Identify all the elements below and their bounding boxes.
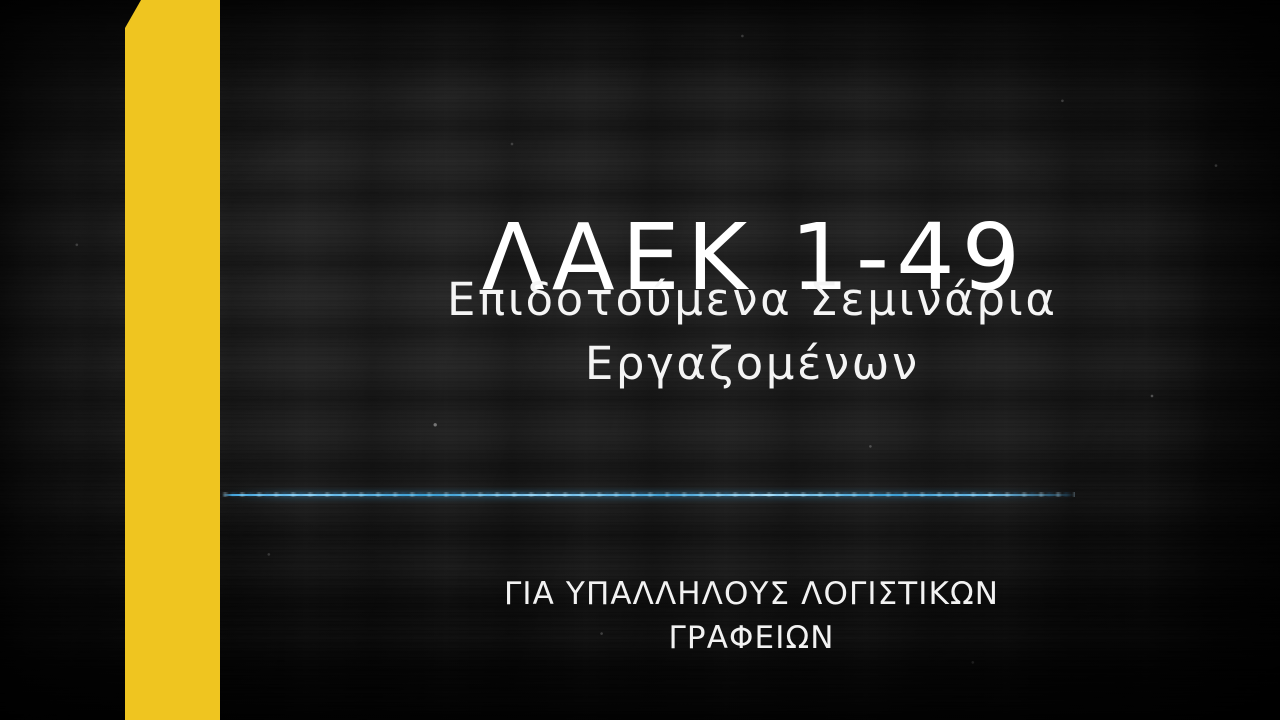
caption-line-2: ΓΡΑΦΕΙΩΝ	[222, 616, 1280, 660]
divider-texture	[222, 492, 1075, 497]
title-slide: ΛΑΕΚ 1-49 Επιδοτούμενα Σεμινάρια Εργαζομ…	[0, 0, 1280, 720]
subtitle-line-2: Εργαζομένων	[222, 332, 1280, 396]
blue-chalk-divider	[222, 489, 1075, 501]
slide-subtitle: Επιδοτούμενα Σεμινάρια Εργαζομένων	[222, 268, 1280, 396]
subtitle-line-1: Επιδοτούμενα Σεμινάρια	[222, 268, 1280, 332]
slide-caption: ΓΙΑ ΥΠΑΛΛΗΛΟΥΣ ΛΟΓΙΣΤΙΚΩΝ ΓΡΑΦΕΙΩΝ	[222, 572, 1280, 660]
yellow-accent-bar	[125, 0, 220, 720]
slide-content: ΛΑΕΚ 1-49 Επιδοτούμενα Σεμινάρια Εργαζομ…	[222, 0, 1280, 720]
caption-line-1: ΓΙΑ ΥΠΑΛΛΗΛΟΥΣ ΛΟΓΙΣΤΙΚΩΝ	[222, 572, 1280, 616]
